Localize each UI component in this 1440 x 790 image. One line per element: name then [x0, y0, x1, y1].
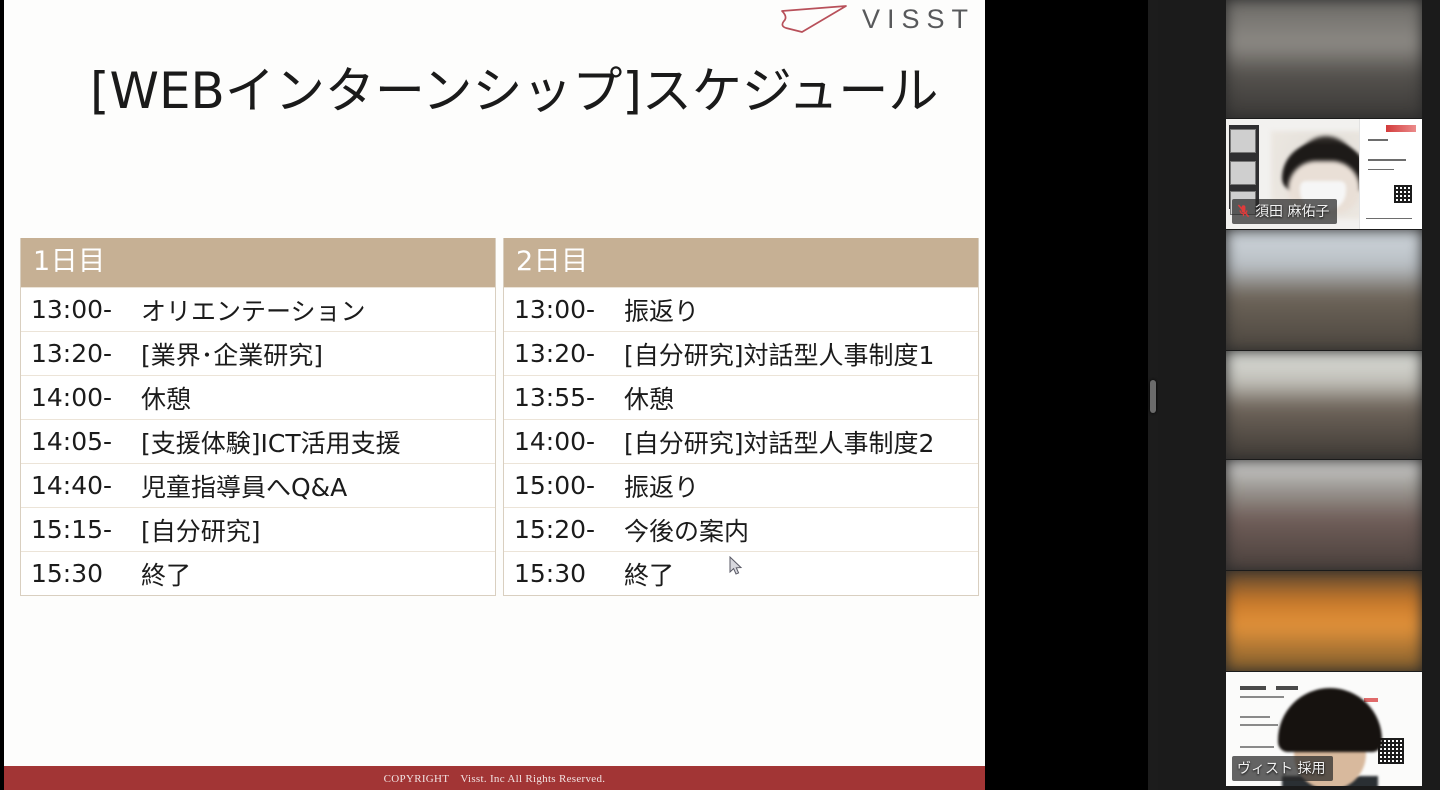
visst-swoosh-logo — [776, 2, 852, 36]
table-row: 13:55- 休憩 — [504, 375, 978, 419]
visst-logo: VISST — [776, 2, 977, 36]
participant-name-badge: ヴィスト 採用 — [1232, 756, 1333, 781]
visst-wordmark: VISST — [862, 4, 977, 35]
participant-tile[interactable] — [1226, 460, 1422, 570]
row-item: [業界･企業研究] — [141, 336, 323, 372]
row-time: 14:05- — [31, 427, 141, 456]
row-item: 振返り — [624, 468, 699, 504]
participant-video — [1226, 0, 1422, 118]
panel-splitter[interactable] — [1148, 0, 1158, 790]
row-item: [自分研究] — [141, 512, 261, 548]
row-time: 14:00- — [31, 383, 141, 412]
virtual-background-card — [1359, 119, 1422, 229]
participant-video — [1226, 571, 1422, 671]
row-item: [自分研究]対話型人事制度2 — [624, 424, 934, 460]
meeting-window: VISST [WEBインターンシップ]スケジュール 1日目 13:00- オリエ… — [0, 0, 1440, 790]
schedule-header-day1: 1日目 — [21, 238, 495, 287]
row-item: 休憩 — [141, 380, 191, 416]
table-row: 15:30 終了 — [21, 551, 495, 595]
schedule-header-day2: 2日目 — [504, 238, 978, 287]
row-time: 15:30 — [514, 559, 624, 588]
participant-tile[interactable] — [1226, 230, 1422, 350]
table-row: 13:20- [自分研究]対話型人事制度1 — [504, 331, 978, 375]
row-time: 15:15- — [31, 515, 141, 544]
table-row: 13:00- 振返り — [504, 287, 978, 331]
row-item: 休憩 — [624, 380, 674, 416]
copyright-text: COPYRIGHT Visst. Inc All Rights Reserved… — [384, 770, 606, 786]
table-row: 14:40- 児童指導員へQ&A — [21, 463, 495, 507]
row-time: 13:20- — [514, 339, 624, 368]
microphone-muted-icon — [1237, 204, 1250, 218]
row-item: 終了 — [141, 556, 191, 592]
row-item: 終了 — [624, 556, 674, 592]
participant-tile[interactable]: 須田 麻佑子 — [1226, 119, 1422, 229]
table-row: 14:05- [支援体験]ICT活用支援 — [21, 419, 495, 463]
row-time: 13:00- — [31, 295, 141, 324]
row-time: 14:00- — [514, 427, 624, 456]
row-item: [自分研究]対話型人事制度1 — [624, 336, 934, 372]
participant-name-badge: 須田 麻佑子 — [1232, 199, 1337, 224]
table-row: 13:20- [業界･企業研究] — [21, 331, 495, 375]
row-item: 振返り — [624, 292, 699, 328]
row-time: 15:30 — [31, 559, 141, 588]
table-row: 15:00- 振返り — [504, 463, 978, 507]
participant-video — [1226, 460, 1422, 570]
table-row: 15:20- 今後の案内 — [504, 507, 978, 551]
row-item: 児童指導員へQ&A — [141, 468, 347, 504]
table-row: 15:30 終了 — [504, 551, 978, 595]
presentation-slide: VISST [WEBインターンシップ]スケジュール 1日目 13:00- オリエ… — [4, 0, 985, 790]
row-item: オリエンテーション — [141, 292, 366, 328]
participant-name: 須田 麻佑子 — [1255, 201, 1329, 221]
row-time: 15:20- — [514, 515, 624, 544]
participant-video — [1226, 230, 1422, 350]
screen-share-region[interactable]: VISST [WEBインターンシップ]スケジュール 1日目 13:00- オリエ… — [0, 0, 1148, 790]
slide-canvas: VISST [WEBインターンシップ]スケジュール 1日目 13:00- オリエ… — [4, 0, 985, 790]
table-row: 14:00- 休憩 — [21, 375, 495, 419]
splitter-handle[interactable] — [1150, 380, 1156, 413]
row-item: 今後の案内 — [624, 512, 749, 548]
table-row: 14:00- [自分研究]対話型人事制度2 — [504, 419, 978, 463]
schedule-tables: 1日目 13:00- オリエンテーション 13:20- [業界･企業研究] 14… — [20, 238, 980, 596]
participant-filmstrip[interactable]: 須田 麻佑子 — [1158, 0, 1440, 790]
participant-tile[interactable] — [1226, 571, 1422, 671]
participant-tile[interactable] — [1226, 0, 1422, 118]
participant-video — [1226, 351, 1422, 459]
participant-tile[interactable]: ヴィスト 採用 — [1226, 672, 1422, 786]
row-time: 13:00- — [514, 295, 624, 324]
schedule-table-day2: 2日目 13:00- 振返り 13:20- [自分研究]対話型人事制度1 13:… — [503, 238, 979, 596]
row-item: [支援体験]ICT活用支援 — [141, 424, 401, 460]
slide-footer-bar: COPYRIGHT Visst. Inc All Rights Reserved… — [4, 766, 985, 790]
participant-name: ヴィスト 採用 — [1237, 758, 1325, 778]
row-time: 13:20- — [31, 339, 141, 368]
row-time: 14:40- — [31, 471, 141, 500]
row-time: 13:55- — [514, 383, 624, 412]
table-row: 15:15- [自分研究] — [21, 507, 495, 551]
row-time: 15:00- — [514, 471, 624, 500]
table-row: 13:00- オリエンテーション — [21, 287, 495, 331]
participant-tile[interactable] — [1226, 351, 1422, 459]
slide-title: [WEBインターンシップ]スケジュール — [90, 63, 938, 121]
schedule-table-day1: 1日目 13:00- オリエンテーション 13:20- [業界･企業研究] 14… — [20, 238, 496, 596]
